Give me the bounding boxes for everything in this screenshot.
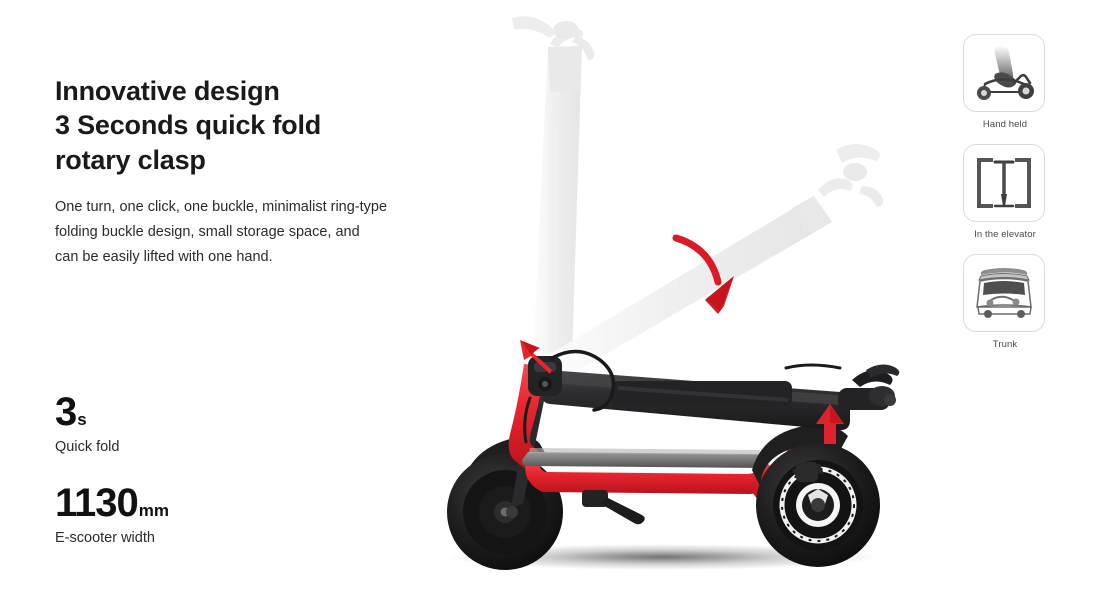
stat-unit: s xyxy=(77,411,86,428)
stat-quick-fold: 3 s Quick fold xyxy=(55,392,355,455)
card-in-the-elevator[interactable]: In the elevator xyxy=(963,144,1047,240)
spec-stats: 3 s Quick fold 1130 mm E-scooter width xyxy=(55,392,355,546)
brake-caliper xyxy=(796,462,818,482)
card-thumb[interactable] xyxy=(963,144,1045,222)
stat-number: 1130 xyxy=(55,483,138,523)
headline-line-3: rotary clasp xyxy=(55,143,455,177)
headline-line-2: 3 Seconds quick fold xyxy=(55,108,455,142)
usage-scenario-cards: Hand held In the elevator xyxy=(963,34,1047,364)
body-line-1: One turn, one click, one buckle, minimal… xyxy=(55,195,455,220)
car-trunk-scooter-icon xyxy=(971,264,1037,322)
product-feature-page: Innovative design 3 Seconds quick fold r… xyxy=(0,0,1100,614)
stat-value: 1130 mm xyxy=(55,483,355,523)
stat-label: Quick fold xyxy=(55,439,355,455)
card-trunk[interactable]: Trunk xyxy=(963,254,1047,350)
card-thumb[interactable] xyxy=(963,34,1045,112)
stat-number: 3 xyxy=(55,392,76,432)
hand-held-scooter-icon xyxy=(971,44,1037,102)
stat-value: 3 s xyxy=(55,392,355,432)
copy-block: Innovative design 3 Seconds quick fold r… xyxy=(55,74,455,270)
body-paragraph: One turn, one click, one buckle, minimal… xyxy=(55,195,455,270)
stat-label: E-scooter width xyxy=(55,530,355,546)
rear-wheel xyxy=(756,443,880,567)
product-illustration xyxy=(400,0,960,614)
headline-line-1: Innovative design xyxy=(55,74,455,108)
body-line-2: folding buckle design, small storage spa… xyxy=(55,220,455,245)
folding-clasp-hinge xyxy=(528,356,562,396)
card-label: In the elevator xyxy=(963,229,1047,240)
card-hand-held[interactable]: Hand held xyxy=(963,34,1047,130)
elevator-scooter-icon xyxy=(971,154,1037,212)
page-title: Innovative design 3 Seconds quick fold r… xyxy=(55,74,455,177)
stat-scooter-width: 1130 mm E-scooter width xyxy=(55,483,355,546)
card-label: Hand held xyxy=(963,119,1047,130)
kickstand xyxy=(582,490,645,524)
card-thumb[interactable] xyxy=(963,254,1045,332)
stem-upright-ghost xyxy=(512,16,594,356)
stat-unit: mm xyxy=(139,502,169,519)
front-wheel xyxy=(447,454,563,570)
card-label: Trunk xyxy=(963,339,1047,350)
stem-folded-solid xyxy=(542,370,850,430)
body-line-3: can be easily lifted with one hand. xyxy=(55,245,455,270)
